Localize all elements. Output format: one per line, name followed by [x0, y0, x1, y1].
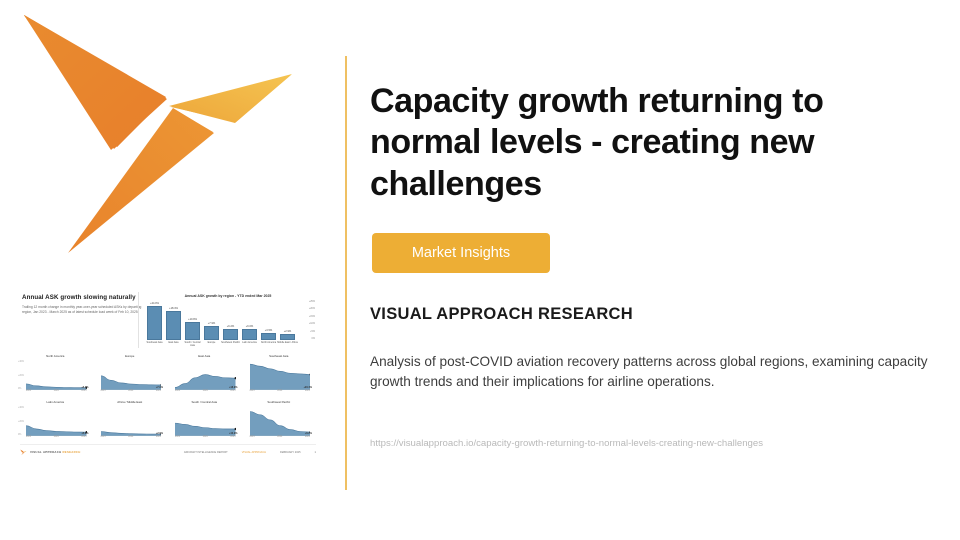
mini-chart-panel: Europe+7.9%202320242025 — [93, 354, 168, 400]
bar-y-tick: 0% — [312, 337, 315, 340]
mini-x-axis: 202320242025 — [26, 436, 87, 438]
footer-brand-accent: RESEARCH — [62, 450, 80, 454]
footer-note: AIRCRAFT INTELLIGENCE REPORT — [184, 451, 228, 454]
bar-column: +6.2%Southwest Pacific — [221, 302, 240, 340]
thumbnail-subtitle: Trailing 12 month change in monthly year… — [22, 305, 150, 315]
mini-chart-plot — [26, 407, 87, 436]
footer-page-number: 1 — [315, 451, 316, 454]
right-column: Capacity growth returning to normal leve… — [370, 0, 950, 540]
small-multiples-grid: +40%+20%0%North America+3.4%202320242025… — [18, 354, 316, 446]
bar-category-label: Europe — [201, 341, 222, 344]
mini-chart-panel: Southeast Asia+23.4%202320242025 — [242, 354, 317, 400]
mini-x-axis: 202320242025 — [250, 390, 311, 392]
mini-chart-plot — [250, 407, 311, 436]
mini-chart-title: Southeast Asia — [242, 354, 317, 358]
mini-chart-panel: North America+3.4%202320242025 — [18, 354, 93, 400]
footer-brand-main: VISUAL APPROACH — [30, 450, 61, 454]
visual-approach-bird-logo — [14, 12, 314, 270]
footer-brand: VISUAL APPROACH RESEARCH — [30, 450, 81, 454]
bar-rect — [261, 333, 276, 340]
mini-x-tick: 2023 — [175, 390, 180, 392]
mini-chart-plot — [101, 361, 162, 390]
mini-x-tick: 2025 — [230, 436, 235, 438]
mini-x-axis: 202320242025 — [101, 436, 162, 438]
mini-chart-end-label: +3.4% — [81, 386, 88, 389]
mini-x-tick: 2024 — [277, 390, 282, 392]
mini-chart-end-label: +10.9% — [229, 432, 238, 435]
mini-x-tick: 2024 — [54, 390, 59, 392]
mini-x-axis: 202320242025 — [101, 390, 162, 392]
bar-category-label: Middle East / Africa — [277, 341, 298, 344]
bar-category-label: South / Central Asia — [182, 341, 203, 347]
mini-x-tick: 2025 — [156, 436, 161, 438]
bar-value-label: +6.2% — [227, 325, 234, 328]
mini-x-axis: 202320242025 — [250, 436, 311, 438]
mini-x-tick: 2025 — [305, 390, 310, 392]
bar-value-label: +6.0% — [246, 325, 253, 328]
bar-column: +2.9%Middle East / Africa — [278, 302, 297, 340]
bar-chart-panel: Annual ASK growth by region - YTD ended … — [138, 292, 317, 348]
mini-x-tick: 2023 — [175, 436, 180, 438]
mini-x-tick: 2025 — [81, 390, 86, 392]
mini-x-tick: 2023 — [101, 390, 106, 392]
bar-y-tick: +5% — [310, 330, 315, 333]
mini-chart-plot — [175, 361, 236, 390]
bar-category-label: East Asia — [163, 341, 184, 344]
bar-category-label: Southeast Asia — [144, 341, 165, 344]
page-title: Capacity growth returning to normal leve… — [370, 81, 930, 205]
mini-x-tick: 2024 — [277, 436, 282, 438]
mini-x-tick: 2023 — [250, 436, 255, 438]
mini-chart-plot — [250, 361, 311, 390]
brand-label: VISUAL APPROACH RESEARCH — [370, 305, 633, 324]
mini-x-tick: 2024 — [128, 390, 133, 392]
mini-x-axis: 202320242025 — [175, 390, 236, 392]
bar-value-label: +7.9% — [208, 322, 215, 325]
article-description: Analysis of post-COVID aviation recovery… — [370, 352, 946, 393]
bar-rect — [166, 311, 181, 340]
mini-chart-panel: South / Central Asia+10.9%202320242025 — [167, 400, 242, 446]
mini-x-tick: 2023 — [101, 436, 106, 438]
bar-rect — [147, 306, 162, 340]
bar-rect — [204, 326, 219, 340]
bar-y-tick: +15% — [309, 315, 315, 318]
bar-value-label: +18.4% — [169, 307, 178, 310]
bar-value-label: +24.0% — [150, 302, 159, 305]
bar-category-label: Southwest Pacific — [220, 341, 241, 344]
mini-x-tick: 2024 — [203, 390, 208, 392]
mini-x-tick: 2024 — [128, 436, 133, 438]
mini-chart-end-label: +23.4% — [303, 386, 312, 389]
mini-x-tick: 2024 — [203, 436, 208, 438]
mini-x-tick: 2023 — [26, 390, 31, 392]
mini-x-tick: 2025 — [156, 390, 161, 392]
mini-chart-title: Europe — [93, 354, 168, 358]
thumbnail-header: Annual ASK growth slowing naturally Trai… — [22, 294, 150, 315]
mini-chart-end-label: +18.9% — [229, 386, 238, 389]
mini-chart-title: South / Central Asia — [167, 400, 242, 404]
mini-chart-plot — [175, 407, 236, 436]
mini-chart-title: North America — [18, 354, 93, 358]
footer-note-accent: VISUAL APPROACH — [242, 451, 266, 454]
mini-x-tick: 2024 — [54, 436, 59, 438]
mini-chart-title: Latin America — [18, 400, 93, 404]
market-insights-badge[interactable]: Market Insights — [372, 233, 550, 273]
mini-chart-title: East Asia — [167, 354, 242, 358]
mini-chart-plot — [26, 361, 87, 390]
bar-rect — [242, 329, 257, 340]
bar-column: +24.0%Southeast Asia — [145, 302, 164, 340]
small-multiples-row: +40%+20%0%North America+3.4%202320242025… — [18, 354, 316, 400]
bar-category-label: Latin America — [239, 341, 260, 344]
bar-column: +3.5%North America — [259, 302, 278, 340]
mini-chart-end-label: +7.9% — [156, 386, 163, 389]
mini-chart-end-label: +6.2% — [305, 432, 312, 435]
mini-chart-end-label: +2.9% — [156, 432, 163, 435]
bar-rect — [223, 329, 238, 340]
bar-value-label: +3.5% — [265, 329, 272, 332]
bar-chart-title: Annual ASK growth by region - YTD ended … — [139, 294, 317, 298]
bar-category-label: North America — [258, 341, 279, 344]
mini-chart-title: Africa / Middle East — [93, 400, 168, 404]
bar-column: +18.4%East Asia — [164, 302, 183, 340]
mini-x-tick: 2025 — [81, 436, 86, 438]
thumbnail-footer: VISUAL APPROACH RESEARCH AIRCRAFT INTELL… — [20, 444, 316, 457]
mini-x-tick: 2025 — [305, 436, 310, 438]
bar-y-tick: +10% — [309, 322, 315, 325]
mini-chart-end-label: +5.9% — [81, 432, 88, 435]
vertical-divider — [345, 56, 347, 490]
article-thumbnail-chart[interactable]: Annual ASK growth slowing naturally Trai… — [14, 288, 320, 460]
bar-column: +6.0%Latin America — [240, 302, 259, 340]
bar-y-tick: +20% — [309, 307, 315, 310]
article-url-link[interactable]: https://visualapproach.io/capacity-growt… — [370, 438, 946, 449]
mini-chart-title: Southwest Pacific — [242, 400, 317, 404]
mini-x-axis: 202320242025 — [26, 390, 87, 392]
bar-chart-bars: +24.0%Southeast Asia+18.4%East Asia+10.9… — [145, 302, 297, 340]
bar-value-label: +2.9% — [284, 330, 291, 333]
left-column: Annual ASK growth slowing naturally Trai… — [0, 0, 332, 540]
mini-chart-panel: Southwest Pacific+6.2%202320242025 — [242, 400, 317, 446]
mini-x-tick: 2023 — [26, 436, 31, 438]
footer-meta: AIRCRAFT INTELLIGENCE REPORT VISUAL APPR… — [184, 451, 316, 454]
small-multiples-row: +40%+20%0%Latin America+5.9%202320242025… — [18, 400, 316, 446]
mini-x-tick: 2023 — [250, 390, 255, 392]
footer-bird-icon — [20, 449, 27, 456]
footer-date: FEBRUARY 2025 — [280, 451, 301, 454]
article-preview-card: Annual ASK growth slowing naturally Trai… — [0, 0, 960, 540]
mini-x-axis: 202320242025 — [175, 436, 236, 438]
mini-chart-panel: Latin America+5.9%202320242025 — [18, 400, 93, 446]
bar-chart-y-axis: +25%+20%+15%+10%+5%0% — [309, 300, 315, 340]
mini-chart-panel: East Asia+18.9%202320242025 — [167, 354, 242, 400]
bar-column: +7.9%Europe — [202, 302, 221, 340]
bar-value-label: +10.9% — [188, 318, 197, 321]
mini-chart-plot — [101, 407, 162, 436]
bar-rect — [185, 322, 200, 340]
thumbnail-title: Annual ASK growth slowing naturally — [22, 294, 150, 301]
bar-column: +10.9%South / Central Asia — [183, 302, 202, 340]
bar-rect — [280, 334, 295, 340]
mini-chart-panel: Africa / Middle East+2.9%202320242025 — [93, 400, 168, 446]
mini-x-tick: 2025 — [230, 390, 235, 392]
bar-y-tick: +25% — [309, 300, 315, 303]
